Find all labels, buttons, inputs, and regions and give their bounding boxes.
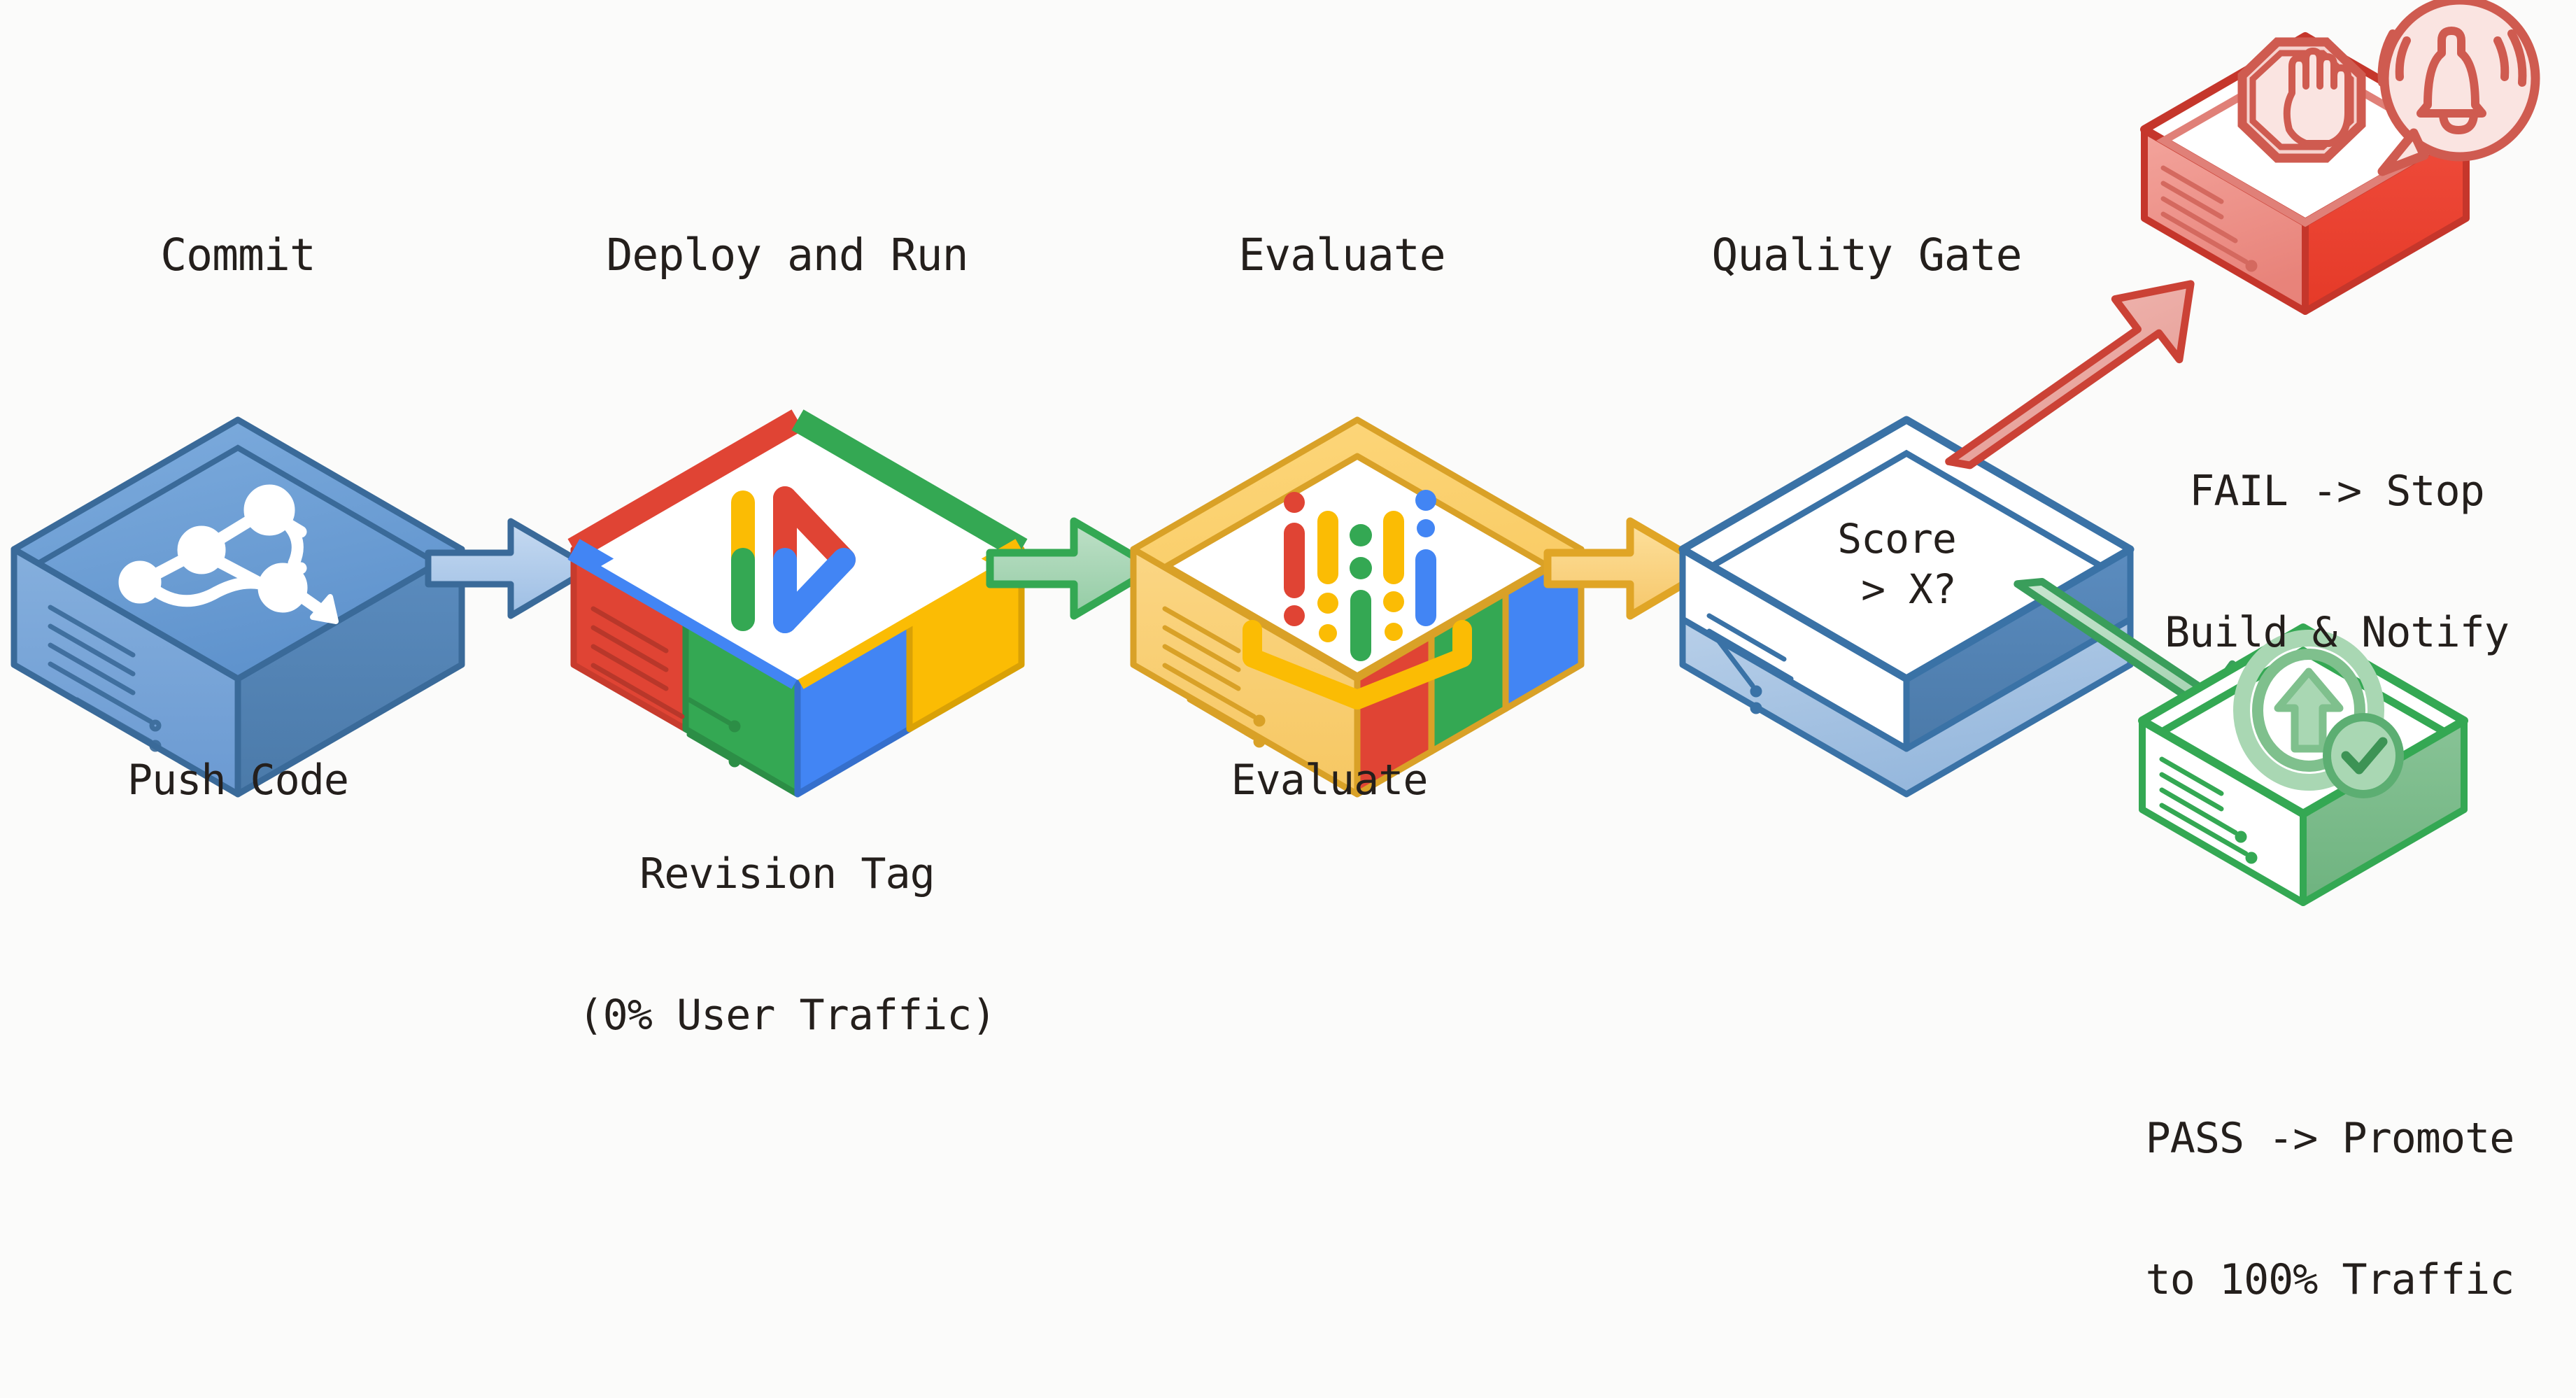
node-label-fail: FAIL -> Stop Build & Notify	[2165, 374, 2509, 751]
fail-line-1: FAIL -> Stop	[2165, 468, 2509, 515]
pass-line-1: PASS -> Promote	[2146, 1115, 2514, 1162]
node-label-deploy-bottom: Revision Tag (0% User Traffic)	[578, 757, 996, 1134]
node-commit[interactable]	[14, 420, 462, 794]
deploy-bottom-line-1: Revision Tag	[578, 851, 996, 898]
arrow-diagonal-up-red	[1949, 284, 2191, 465]
deploy-bottom-line-2: (0% User Traffic)	[578, 992, 996, 1039]
fail-line-2: Build & Notify	[2165, 609, 2509, 656]
node-label-evaluate-bottom: Evaluate	[1231, 757, 1428, 804]
node-label-commit-top: Commit	[160, 231, 316, 281]
pass-line-2: to 100% Traffic	[2146, 1257, 2514, 1304]
bell-notification-icon	[2382, 0, 2535, 171]
node-deploy-and-run[interactable]	[574, 420, 1021, 794]
node-label-deploy-top: Deploy and Run	[606, 231, 968, 281]
node-label-commit-bottom: Push Code	[127, 757, 348, 804]
node-label-quality-gate-top: Quality Gate	[1711, 231, 2021, 281]
node-label-evaluate-top: Evaluate	[1238, 231, 1445, 281]
node-fail[interactable]	[2144, 0, 2535, 311]
node-evaluate[interactable]	[1133, 420, 1581, 794]
stop-hand-icon	[2242, 42, 2361, 158]
node-label-pass: PASS -> Promote to 100% Traffic	[2146, 1022, 2514, 1398]
diagram-canvas: Score > X?	[0, 0, 2576, 1180]
